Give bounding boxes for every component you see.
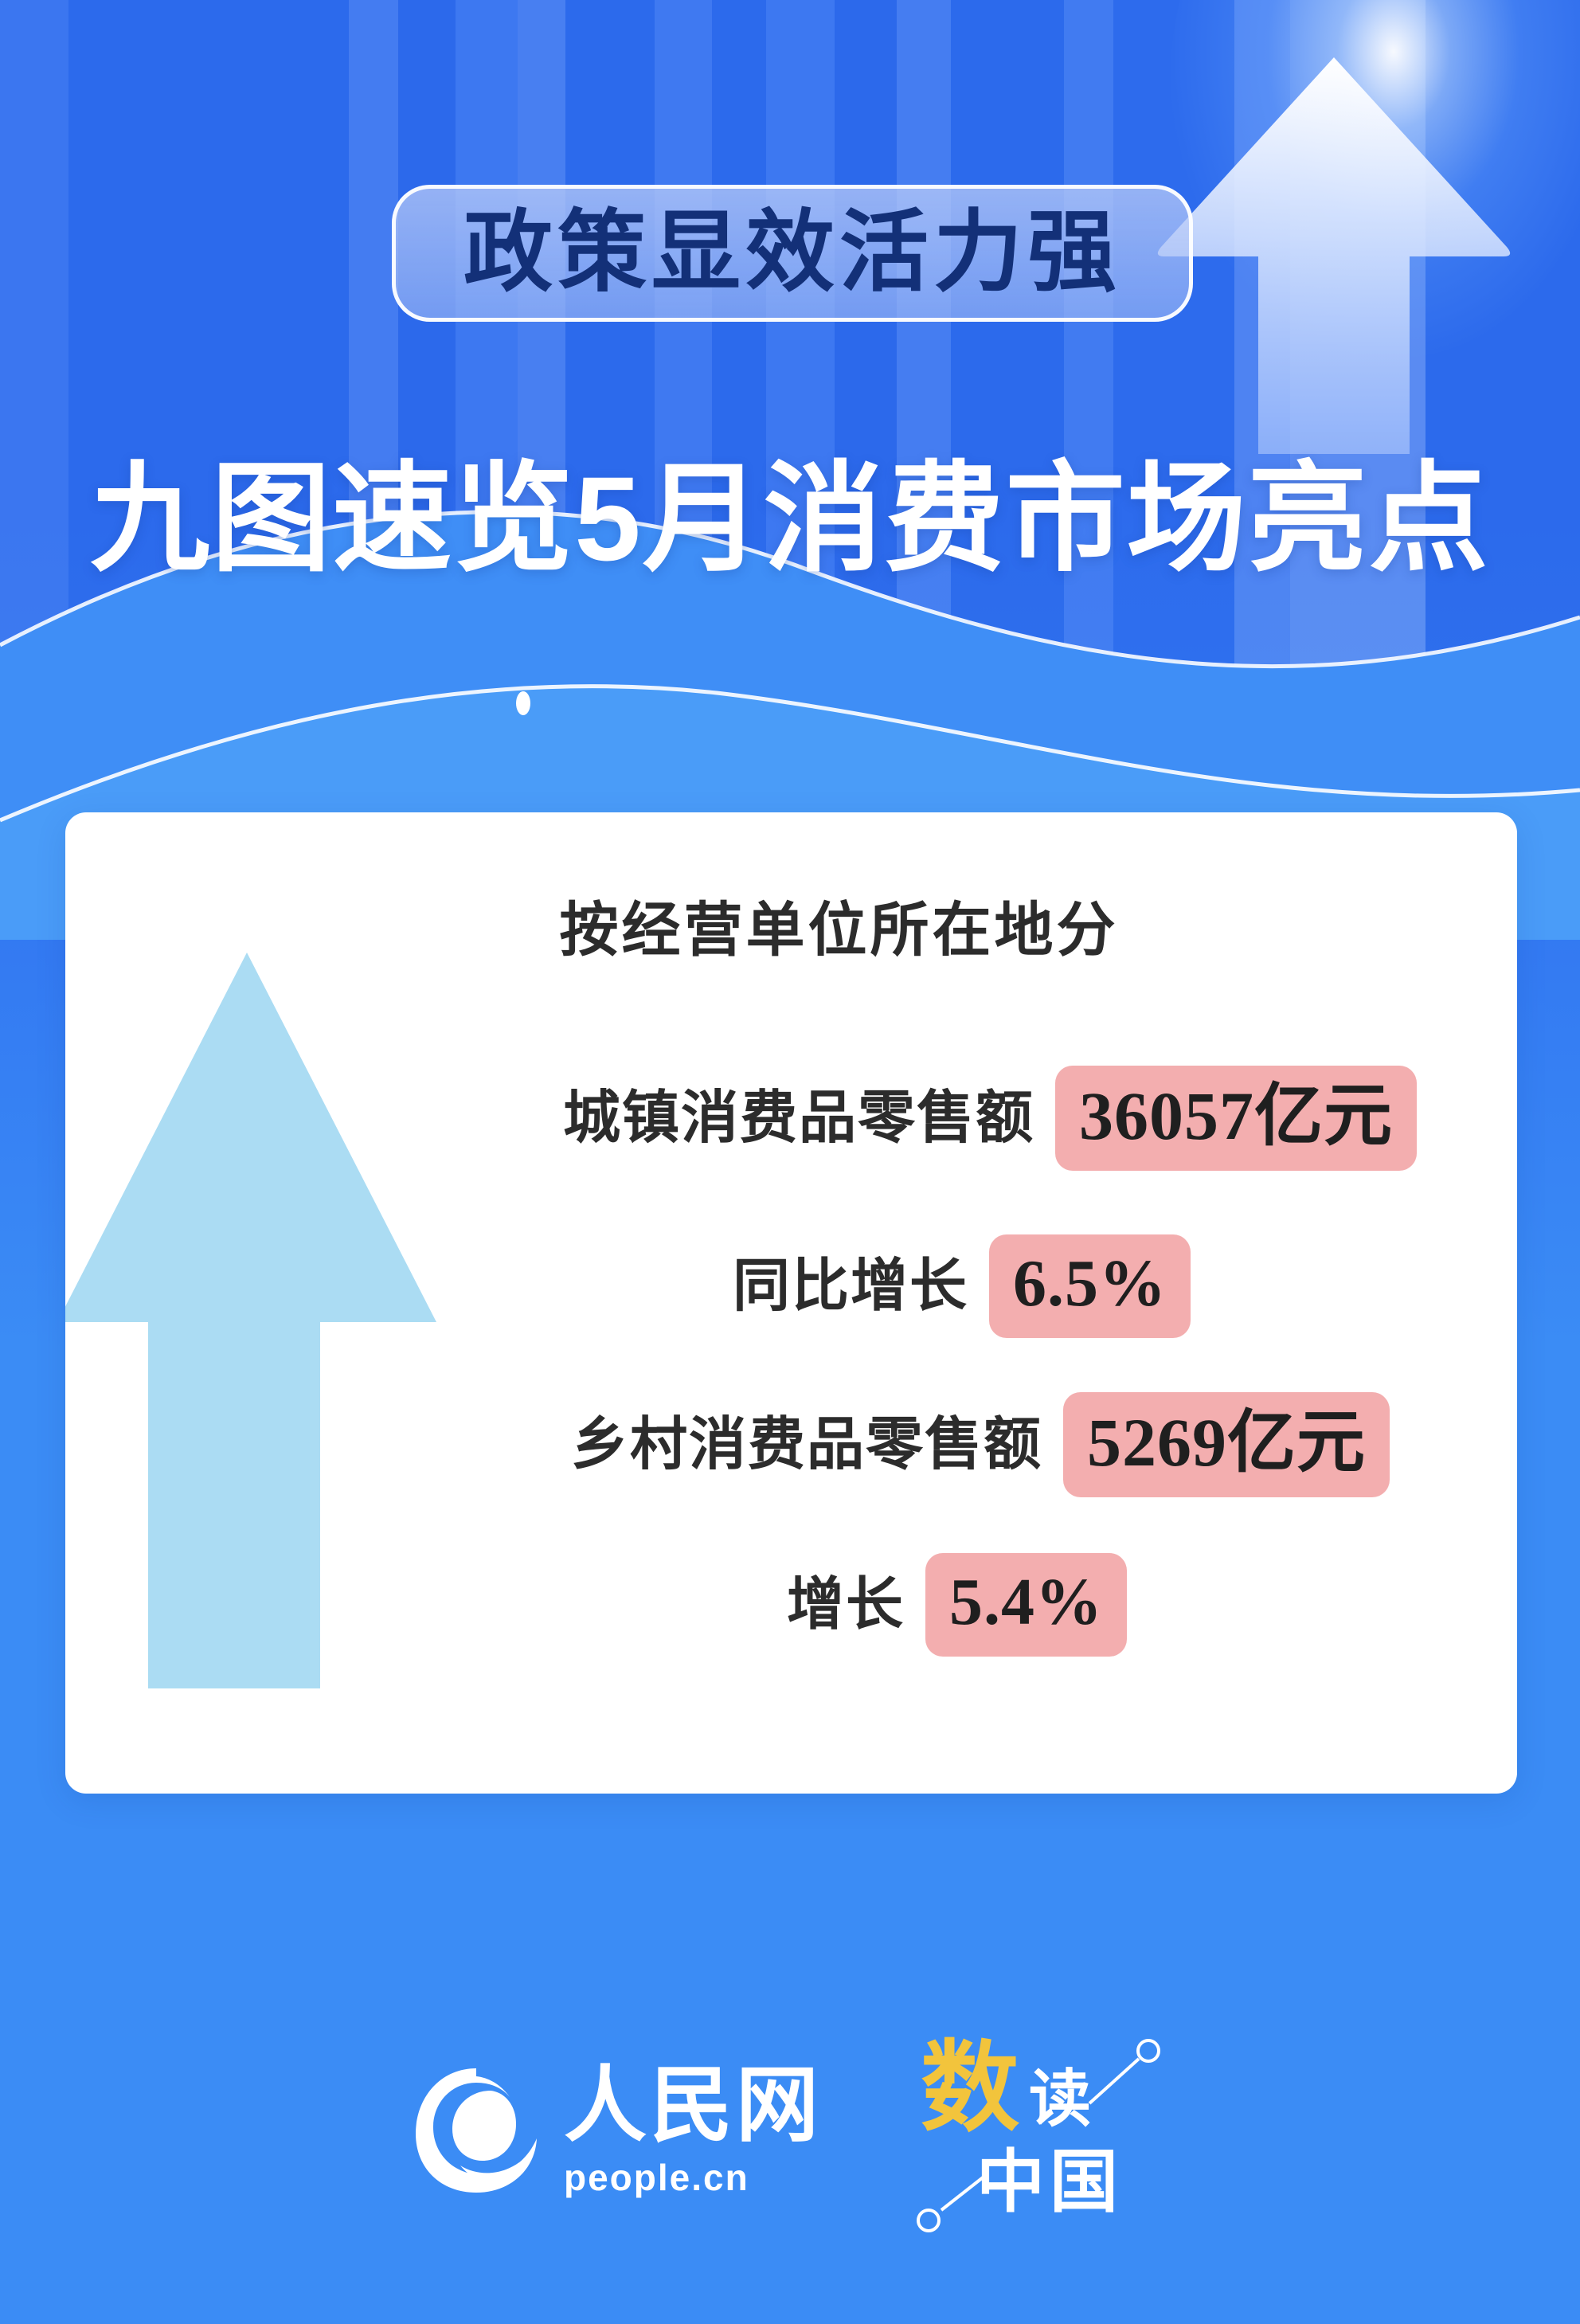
wave-dot-accent <box>516 691 530 715</box>
stat-row: 增长 5.4% <box>787 1553 1127 1657</box>
shudu-char-du: 读 <box>1029 2068 1091 2130</box>
people-cn-name-en: people.cn <box>564 2159 749 2196</box>
shudu-zhongguo-logo: 数 读 中国 <box>909 2027 1172 2234</box>
stat-card-content: 按经营单位所在地分 城镇消费品零售额 36057亿元 同比增长 6.5% 乡村消… <box>65 812 1517 1794</box>
stat-value-badge: 5.4% <box>925 1553 1127 1657</box>
stat-value-badge: 6.5% <box>989 1234 1191 1338</box>
page-title: 九图速览5月消费市场亮点 <box>0 446 1580 592</box>
stat-card: 按经营单位所在地分 城镇消费品零售额 36057亿元 同比增长 6.5% 乡村消… <box>65 812 1517 1794</box>
stat-label: 同比增长 <box>733 1258 968 1315</box>
header-badge: 政策显效活力强 <box>392 185 1193 322</box>
header-badge-label: 政策显效活力强 <box>463 209 1121 298</box>
people-cn-swirl-mark-icon <box>408 2062 545 2199</box>
stat-value-badge: 5269亿元 <box>1063 1392 1390 1497</box>
infographic-poster: 政策显效活力强 九图速览5月消费市场亮点 按经营单位所在地分 城镇消费品零售额 … <box>0 0 1580 2324</box>
people-cn-wordmark: 人民网 people.cn <box>564 2065 822 2196</box>
footer-logos: 人民网 people.cn 数 读 中国 <box>0 1995 1580 2266</box>
shudu-word-zhongguo: 中国 <box>976 2148 1123 2216</box>
stat-row: 乡村消费品零售额 5269亿元 <box>571 1392 1390 1497</box>
people-cn-logo: 人民网 people.cn <box>408 2062 822 2199</box>
people-cn-name-zh: 人民网 <box>564 2065 822 2148</box>
stat-label: 城镇消费品零售额 <box>563 1090 1034 1147</box>
stat-card-title: 按经营单位所在地分 <box>65 902 1517 961</box>
stat-value-badge: 36057亿元 <box>1055 1066 1417 1171</box>
background-up-arrow-icon <box>1147 8 1521 454</box>
stat-label: 乡村消费品零售额 <box>571 1416 1042 1473</box>
stat-row: 同比增长 6.5% <box>733 1234 1191 1338</box>
stat-label: 增长 <box>787 1576 905 1633</box>
shudu-char-shu: 数 <box>921 2040 1019 2138</box>
stat-row: 城镇消费品零售额 36057亿元 <box>563 1066 1417 1171</box>
